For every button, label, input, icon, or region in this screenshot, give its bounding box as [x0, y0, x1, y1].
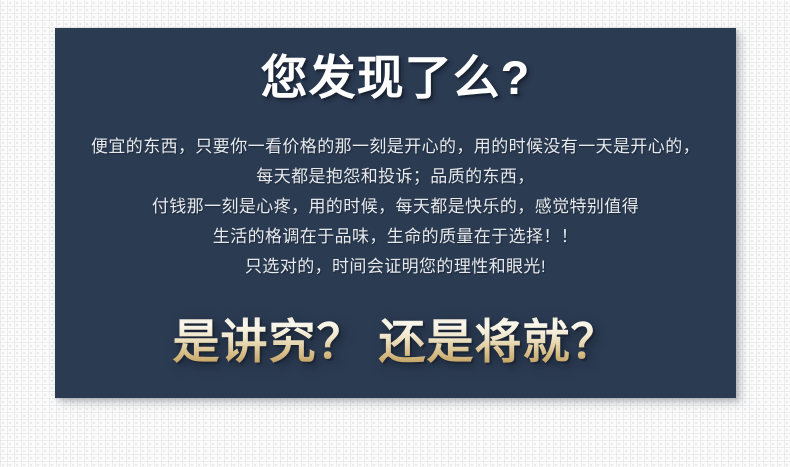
body-line-3: 付钱那一刻是心疼，用的时候，每天都是快乐的，感觉特别值得 — [69, 192, 722, 222]
body-line-4: 生活的格调在于品味，生命的质量在于选择！！ — [69, 222, 722, 252]
poster-canvas: 您发现了么? 便宜的东西，只要你一看价格的那一刻是开心的，用的时候没有一天是开心… — [0, 0, 790, 467]
headline-main: 您发现了么? — [55, 50, 736, 105]
promo-panel: 您发现了么? 便宜的东西，只要你一看价格的那一刻是开心的，用的时候没有一天是开心… — [55, 28, 736, 398]
body-line-2: 每天都是抱怨和投诉；品质的东西， — [69, 162, 722, 192]
body-line-1: 便宜的东西，只要你一看价格的那一刻是开心的，用的时候没有一天是开心的， — [69, 132, 722, 162]
body-copy: 便宜的东西，只要你一看价格的那一刻是开心的，用的时候没有一天是开心的， 每天都是… — [69, 132, 722, 282]
headline-gold-container: 是讲究？ 还是将就？ — [55, 314, 736, 369]
headline-gold: 是讲究？ 还是将就？ — [172, 314, 618, 369]
body-line-5: 只选对的，时间会证明您的理性和眼光! — [69, 252, 722, 282]
